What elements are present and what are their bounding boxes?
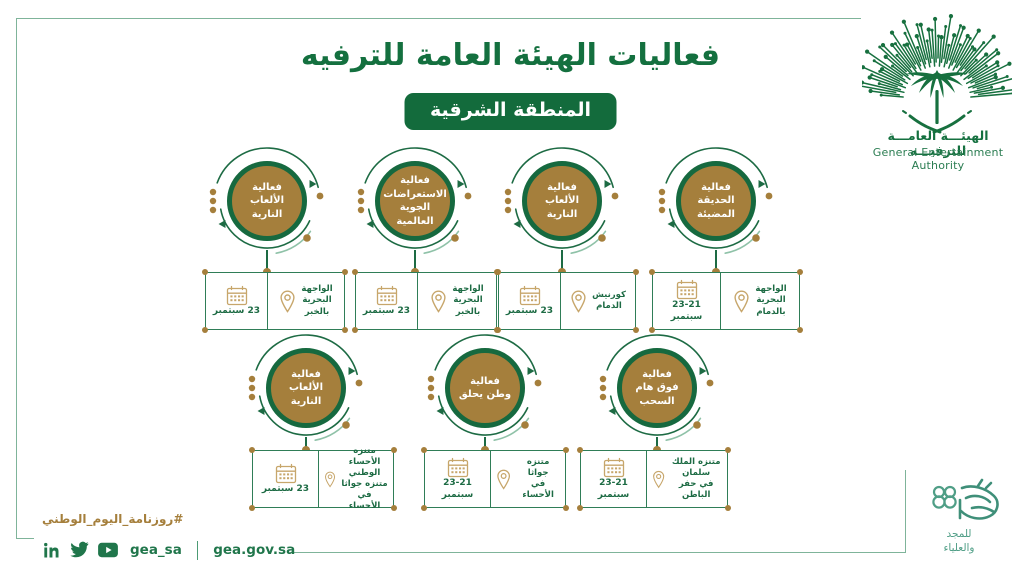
- event-location-text: الواجهةالبحريةبالخبر: [301, 284, 332, 317]
- event-info-box-1[interactable]: الواجهةالبحريةبالخبر23 سبتمبر: [205, 272, 345, 330]
- event-location: متنزهالأحساء الوطنيمتنزه جواثافي الأحساء: [319, 451, 393, 507]
- infobox-corner-dot: [202, 269, 208, 275]
- event-date: 23 سبتمبر: [253, 451, 319, 507]
- location-pin-icon: [279, 290, 296, 313]
- event-info-box-4[interactable]: الواجهةالبحريةبالدمام23-21سبتمبر: [652, 272, 800, 330]
- event-info-box-6[interactable]: متنزه جواثافي الأحساء23-21سبتمبر: [424, 450, 566, 508]
- location-pin-icon: [324, 468, 336, 491]
- event-disc: فعاليةفوق هامالسحب: [617, 348, 697, 428]
- event-title: فعاليةالألعاب النارية: [271, 368, 341, 409]
- event-title: فعاليةالحديقة المضيئة: [681, 181, 751, 222]
- youtube-icon[interactable]: [97, 541, 119, 559]
- location-pin-icon: [570, 290, 587, 313]
- event-disc: فعاليةالحديقة المضيئة: [676, 161, 756, 241]
- frame-border-left: [16, 18, 17, 538]
- event-location: الواجهةالبحريةبالدمام: [721, 273, 799, 329]
- infographic-canvas: فعاليات الهيئة العامة للترفيه المنطقة ال…: [0, 0, 1021, 572]
- infobox-corner-dot: [391, 505, 397, 511]
- event-circle-5[interactable]: فعاليةالألعاب النارية: [243, 333, 369, 443]
- calendar-icon: [376, 285, 398, 306]
- event-location-text: الواجهةالبحريةبالخبر: [452, 284, 483, 317]
- event-date: 23-21سبتمبر: [425, 451, 491, 507]
- event-title: فعاليةالاستعراضاتالجوية العالمية: [378, 174, 452, 228]
- event-circle-3[interactable]: فعاليةالألعاب النارية: [499, 146, 625, 256]
- infobox-corner-dot: [563, 447, 569, 453]
- event-title: فعاليةالألعاب النارية: [232, 181, 302, 222]
- infobox-corner-dot: [725, 447, 731, 453]
- calendar-icon: [519, 285, 541, 306]
- event-location: الواجهةالبحريةبالخبر: [418, 273, 496, 329]
- national-day-slogan: للمجدوالعلياء: [915, 528, 1003, 555]
- frame-border-bottom-left: [16, 538, 34, 539]
- event-date: 23 سبتمبر: [356, 273, 418, 329]
- event-circle-6[interactable]: فعاليةوطن يحلق: [422, 333, 548, 443]
- event-disc: فعاليةالألعاب النارية: [522, 161, 602, 241]
- event-location-text: متنزهالأحساء الوطنيمتنزه جواثافي الأحساء: [341, 446, 388, 512]
- event-info-box-2[interactable]: الواجهةالبحريةبالخبر23 سبتمبر: [355, 272, 497, 330]
- website-label: gea.gov.sa: [213, 542, 295, 558]
- event-location-text: متنزه الملكسلمانفي حفر الباطن: [670, 457, 722, 501]
- event-info-box-5[interactable]: متنزهالأحساء الوطنيمتنزه جواثافي الأحساء…: [252, 450, 394, 508]
- infobox-corner-dot: [421, 505, 427, 511]
- event-location-text: الواجهةالبحريةبالدمام: [755, 284, 786, 317]
- linkedin-icon[interactable]: [42, 540, 62, 560]
- event-date-text: 23-21سبتمبر: [671, 300, 703, 323]
- calendar-icon: [226, 285, 248, 306]
- event-circle-4[interactable]: فعاليةالحديقة المضيئة: [653, 146, 779, 256]
- event-date-text: 23 سبتمبر: [506, 306, 553, 317]
- frame-border-bottom-middle: [290, 552, 905, 553]
- location-pin-icon: [496, 468, 511, 491]
- infobox-corner-dot: [352, 269, 358, 275]
- event-date-text: 23 سبتمبر: [213, 306, 260, 317]
- region-badge: المنطقة الشرقية: [404, 93, 617, 130]
- event-date: 23-21سبتمبر: [653, 273, 721, 329]
- logo-english-text: General Entertainment Authority: [862, 146, 1014, 172]
- event-date: 23-21سبتمبر: [581, 451, 647, 507]
- event-title: فعاليةالألعاب النارية: [527, 181, 597, 222]
- calendar-icon: [603, 457, 625, 478]
- infobox-corner-dot: [421, 447, 427, 453]
- infobox-corner-dot: [391, 447, 397, 453]
- hashtag-label: #روزنامة_اليوم_الوطني: [42, 512, 183, 526]
- social-links: gea_sa gea.gov.sa: [42, 540, 295, 560]
- event-date: 23 سبتمبر: [206, 273, 268, 329]
- event-disc: فعاليةالألعاب النارية: [227, 161, 307, 241]
- infobox-corner-dot: [577, 505, 583, 511]
- event-date: 23 سبتمبر: [499, 273, 561, 329]
- social-handle: gea_sa: [130, 542, 182, 558]
- event-location-text: كورنيشالدمام: [592, 290, 626, 312]
- calendar-icon: [447, 457, 469, 478]
- infobox-corner-dot: [202, 327, 208, 333]
- event-disc: فعاليةالألعاب النارية: [266, 348, 346, 428]
- event-location: متنزه جواثافي الأحساء: [491, 451, 565, 507]
- frame-border-right: [905, 470, 906, 553]
- footer-divider: [197, 541, 198, 560]
- event-circle-1[interactable]: فعاليةالألعاب النارية: [204, 146, 330, 256]
- infobox-corner-dot: [725, 505, 731, 511]
- infobox-corner-dot: [342, 269, 348, 275]
- event-location: كورنيشالدمام: [561, 273, 635, 329]
- event-date-text: 23-21سبتمبر: [442, 478, 474, 501]
- event-date-text: 23 سبتمبر: [363, 306, 410, 317]
- event-info-box-7[interactable]: متنزه الملكسلمانفي حفر الباطن23-21سبتمبر: [580, 450, 728, 508]
- infobox-corner-dot: [797, 327, 803, 333]
- event-location: الواجهةالبحريةبالخبر: [268, 273, 344, 329]
- calendar-icon: [676, 279, 698, 300]
- event-circle-7[interactable]: فعاليةفوق هامالسحب: [594, 333, 720, 443]
- event-location-text: متنزه جواثافي الأحساء: [516, 457, 560, 501]
- event-circle-2[interactable]: فعاليةالاستعراضاتالجوية العالمية: [352, 146, 478, 256]
- infobox-corner-dot: [495, 269, 501, 275]
- event-location: متنزه الملكسلمانفي حفر الباطن: [647, 451, 727, 507]
- frame-border-top: [16, 18, 861, 19]
- event-disc: فعاليةالاستعراضاتالجوية العالمية: [375, 161, 455, 241]
- event-date-text: 23 سبتمبر: [262, 484, 309, 495]
- event-title: فعاليةوطن يحلق: [454, 375, 516, 402]
- infobox-corner-dot: [249, 447, 255, 453]
- infobox-corner-dot: [649, 269, 655, 275]
- event-disc: فعاليةوطن يحلق: [445, 348, 525, 428]
- location-pin-icon: [430, 290, 447, 313]
- twitter-icon[interactable]: [69, 540, 90, 560]
- infobox-corner-dot: [563, 505, 569, 511]
- infobox-corner-dot: [797, 269, 803, 275]
- location-pin-icon: [652, 468, 665, 491]
- event-title: فعاليةفوق هامالسحب: [630, 368, 683, 409]
- infobox-corner-dot: [249, 505, 255, 511]
- location-pin-icon: [733, 290, 750, 313]
- calendar-icon: [275, 463, 297, 484]
- event-info-box-3[interactable]: كورنيشالدمام23 سبتمبر: [498, 272, 636, 330]
- infobox-corner-dot: [633, 269, 639, 275]
- infobox-corner-dot: [577, 447, 583, 453]
- event-date-text: 23-21سبتمبر: [598, 478, 630, 501]
